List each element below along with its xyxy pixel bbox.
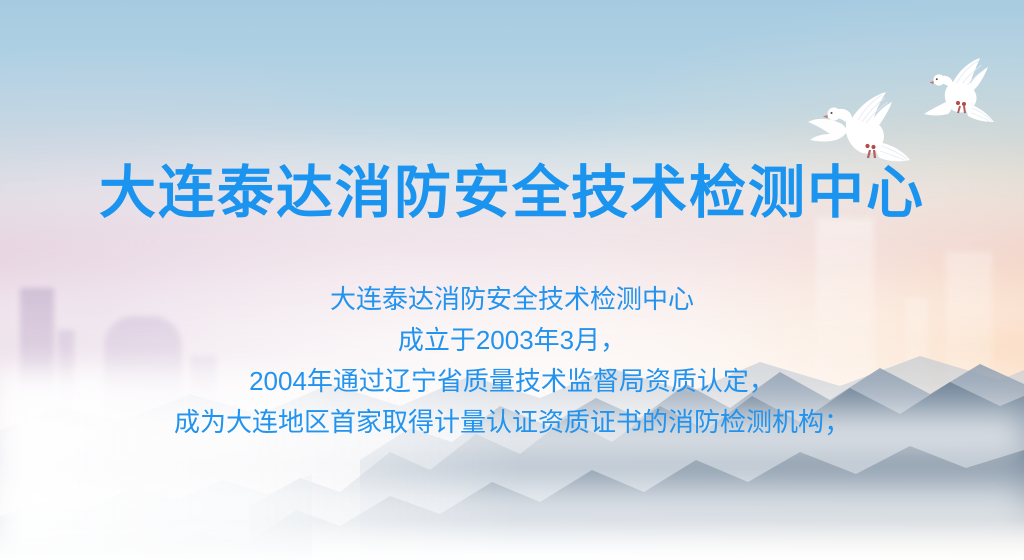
body-line: 2004年通过辽宁省质量技术监督局资质认定， — [0, 361, 1024, 402]
body-line: 成为大连地区首家取得计量认证资质证书的消防检测机构； — [0, 402, 1024, 443]
body-line: 大连泰达消防安全技术检测中心 — [0, 279, 1024, 320]
slide-content: 大连泰达消防安全技术检测中心 大连泰达消防安全技术检测中心 成立于2003年3月… — [0, 0, 1024, 560]
body-line: 成立于2003年3月， — [0, 320, 1024, 361]
page-title: 大连泰达消防安全技术检测中心 — [0, 164, 1024, 224]
slide-canvas: 大连泰达消防安全技术检测中心 大连泰达消防安全技术检测中心 成立于2003年3月… — [0, 0, 1024, 560]
slide-body-text: 大连泰达消防安全技术检测中心 成立于2003年3月， 2004年通过辽宁省质量技… — [0, 279, 1024, 443]
